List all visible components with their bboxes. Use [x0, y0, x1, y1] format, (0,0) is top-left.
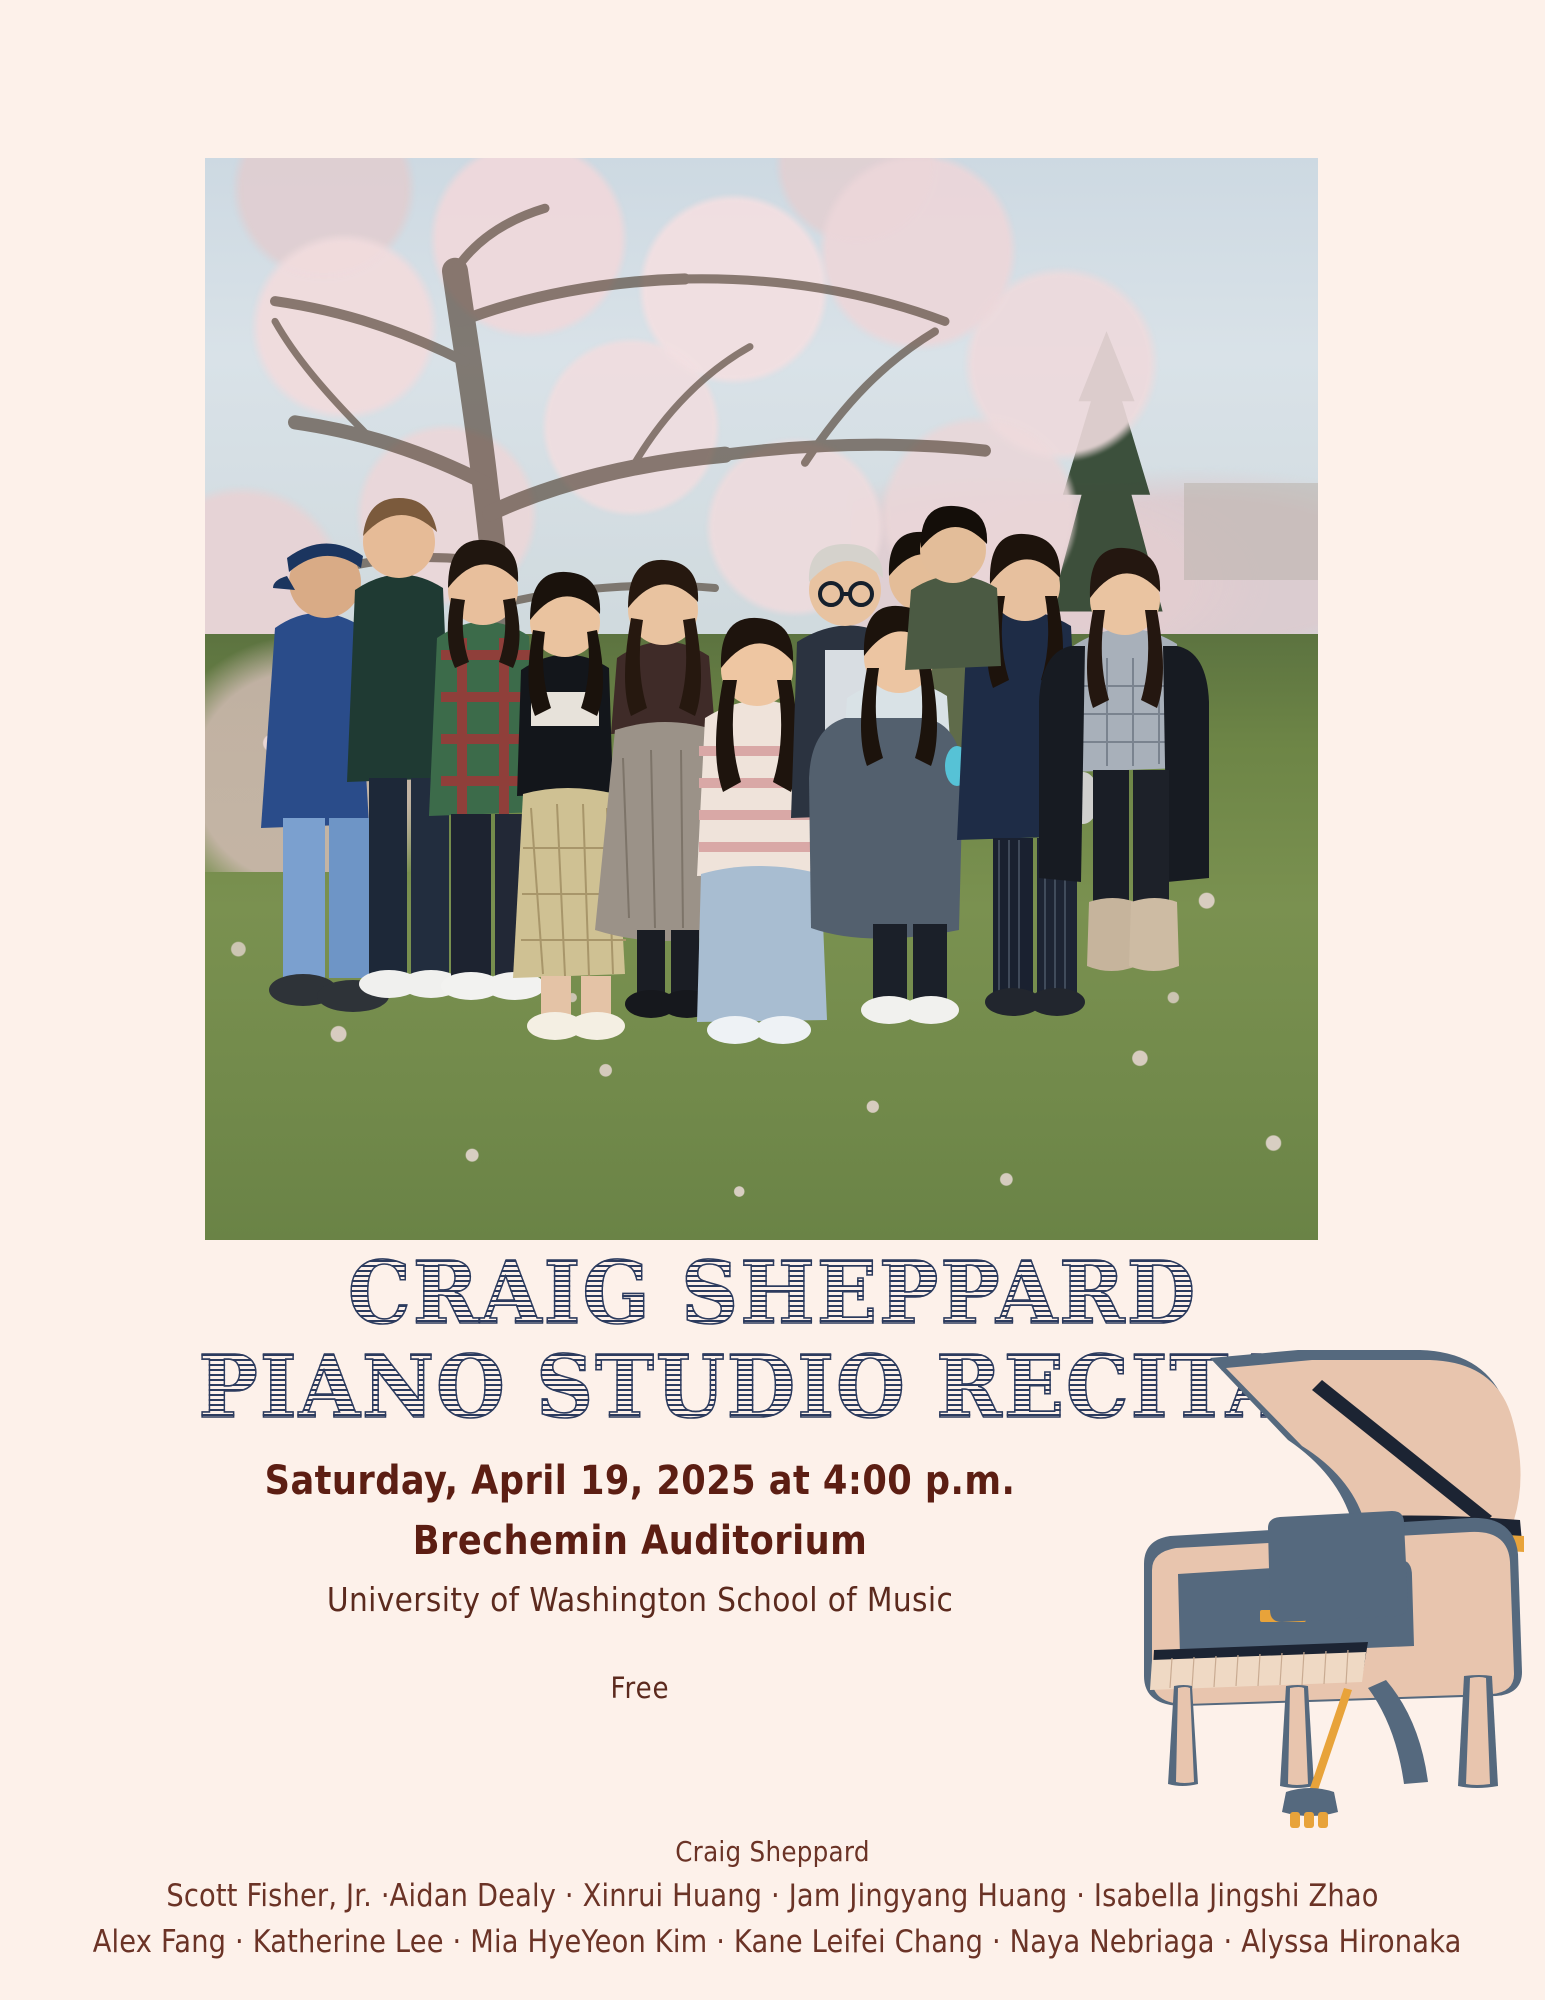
- event-details: Saturday, April 19, 2025 at 4:00 p.m. Br…: [0, 1458, 1280, 1705]
- performer-teacher: Craig Sheppard: [93, 1835, 1453, 1868]
- event-venue: Brechemin Auditorium: [77, 1518, 1203, 1564]
- grand-piano-illustration: [1100, 1320, 1545, 1840]
- performer-row-2: Alex Fang · Katherine Lee · Mia HyeYeon …: [93, 1924, 1453, 1960]
- group-photo: [205, 158, 1318, 1240]
- performer-row-1: Scott Fisher, Jr. ·Aidan Dealy · Xinrui …: [93, 1878, 1453, 1914]
- event-date: Saturday, April 19, 2025 at 4:00 p.m.: [77, 1458, 1203, 1504]
- performer-list: Craig Sheppard Scott Fisher, Jr. ·Aidan …: [0, 1835, 1545, 1960]
- photo-people-group: [205, 158, 1318, 1240]
- event-price: Free: [64, 1671, 1216, 1705]
- event-school: University of Washington School of Music: [64, 1580, 1216, 1619]
- poster-canvas: CRAIG SHEPPARD PIANO STUDIO RECITAL Satu…: [0, 0, 1545, 2000]
- photo-image: [205, 158, 1318, 1240]
